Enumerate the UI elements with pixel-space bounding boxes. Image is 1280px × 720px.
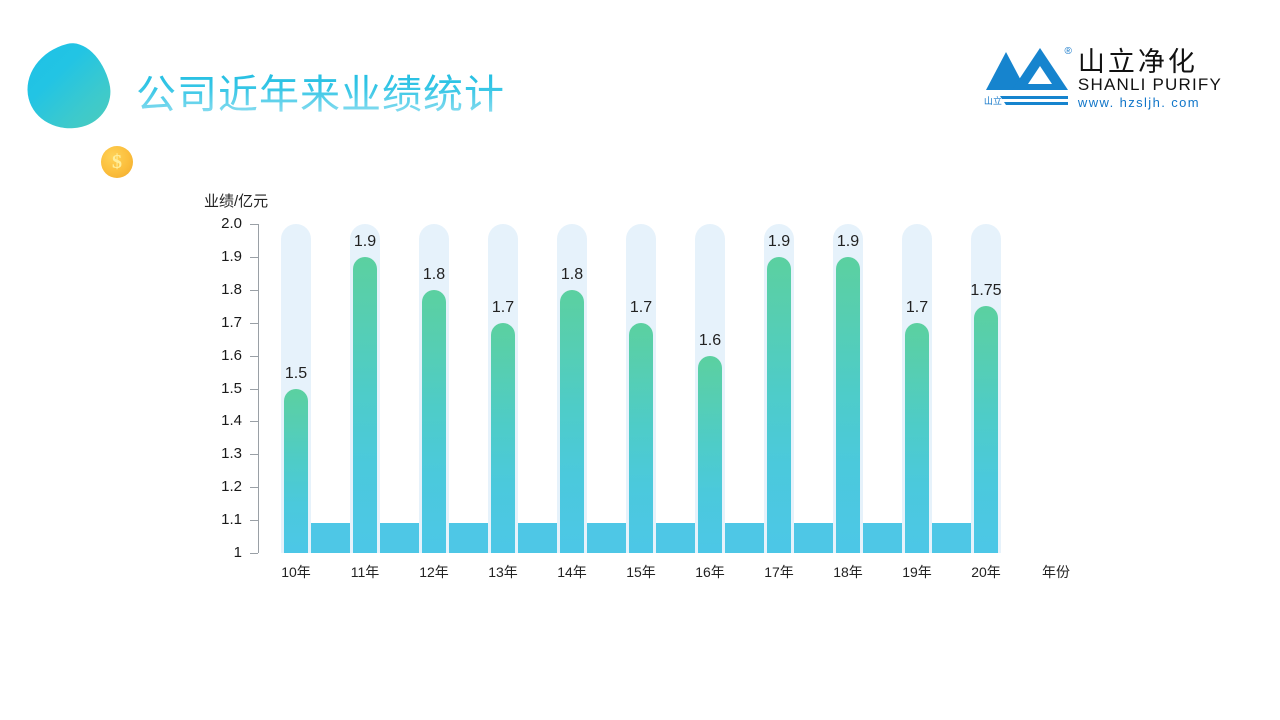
y-axis-tick-label-wrap: 1 [200, 553, 242, 554]
y-axis-tick-label: 1.6 [200, 347, 242, 364]
bar[interactable] [560, 290, 584, 553]
y-axis-tick-label: 1.9 [200, 248, 242, 265]
bar[interactable] [836, 257, 860, 553]
y-axis-tick [250, 290, 258, 291]
bar-value-label: 1.7 [474, 299, 532, 317]
bar-column[interactable]: 1.7520年 [971, 224, 1001, 553]
y-axis-tick [250, 553, 258, 554]
bar[interactable] [491, 323, 515, 553]
bar-column[interactable]: 1.713年 [488, 224, 518, 553]
x-axis-tick-label: 10年 [265, 562, 327, 582]
x-axis-tick-label: 18年 [817, 562, 879, 582]
x-axis-tick-label: 16年 [679, 562, 741, 582]
y-axis-line [258, 224, 259, 553]
bar[interactable] [974, 306, 998, 553]
x-axis-title: 年份 [1042, 562, 1070, 582]
x-axis-tick-label: 20年 [955, 562, 1017, 582]
bar-value-label: 1.9 [336, 233, 394, 251]
y-axis-tick [250, 389, 258, 390]
x-axis-tick-label: 15年 [610, 562, 672, 582]
x-axis-tick-label: 14年 [541, 562, 603, 582]
bar-value-label: 1.8 [405, 266, 463, 284]
y-axis-tick-label-wrap: 1.1 [200, 520, 242, 521]
x-axis-tick-label: 12年 [403, 562, 465, 582]
bar-value-label: 1.8 [543, 266, 601, 284]
y-axis-tick-label: 1.7 [200, 314, 242, 331]
bar-value-label: 1.7 [612, 299, 670, 317]
bar[interactable] [422, 290, 446, 553]
y-axis-tick [250, 224, 258, 225]
y-axis-tick-label: 1.4 [200, 412, 242, 429]
y-axis-tick [250, 257, 258, 258]
bar-column[interactable]: 1.911年 [350, 224, 380, 553]
bar-value-label: 1.5 [267, 365, 325, 383]
x-axis-tick-label: 13年 [472, 562, 534, 582]
bar-value-label: 1.9 [819, 233, 877, 251]
bar-value-label: 1.9 [750, 233, 808, 251]
y-axis-tick-label: 2.0 [200, 215, 242, 232]
y-axis-tick [250, 454, 258, 455]
y-axis-tick [250, 520, 258, 521]
bar[interactable] [698, 356, 722, 553]
y-axis-tick-label-wrap: 1.3 [200, 454, 242, 455]
performance-bar-chart: 业绩/亿元 年份 11.11.21.31.41.51.61.71.81.92.0… [0, 0, 1280, 720]
bar-value-label: 1.7 [888, 299, 946, 317]
bar-column[interactable]: 1.917年 [764, 224, 794, 553]
bar-value-label: 1.75 [957, 282, 1015, 300]
y-axis-tick-label: 1.1 [200, 511, 242, 528]
y-axis-tick-label-wrap: 2.0 [200, 224, 242, 225]
bar-value-label: 1.6 [681, 332, 739, 350]
x-axis-tick-label: 19年 [886, 562, 948, 582]
y-axis-title: 业绩/亿元 [204, 190, 268, 211]
y-axis-tick-label: 1.8 [200, 281, 242, 298]
bar[interactable] [905, 323, 929, 553]
y-axis-tick-label-wrap: 1.9 [200, 257, 242, 258]
y-axis-tick-label: 1.3 [200, 445, 242, 462]
bar[interactable] [767, 257, 791, 553]
bar-column[interactable]: 1.715年 [626, 224, 656, 553]
bar-column[interactable]: 1.918年 [833, 224, 863, 553]
x-axis-tick-label: 17年 [748, 562, 810, 582]
y-axis-tick-label-wrap: 1.6 [200, 356, 242, 357]
y-axis-tick [250, 487, 258, 488]
plot-area: 1.510年1.911年1.812年1.713年1.814年1.715年1.61… [281, 224, 1000, 553]
bar[interactable] [353, 257, 377, 553]
bar-column[interactable]: 1.812年 [419, 224, 449, 553]
y-axis-tick-label-wrap: 1.4 [200, 421, 242, 422]
y-axis-tick [250, 356, 258, 357]
x-axis-tick-label: 11年 [334, 562, 396, 582]
y-axis-tick [250, 323, 258, 324]
y-axis-tick-label-wrap: 1.7 [200, 323, 242, 324]
y-axis-tick-label-wrap: 1.2 [200, 487, 242, 488]
bar-column[interactable]: 1.510年 [281, 224, 311, 553]
bar-column[interactable]: 1.616年 [695, 224, 725, 553]
bar-column[interactable]: 1.719年 [902, 224, 932, 553]
y-axis-tick-label-wrap: 1.5 [200, 389, 242, 390]
bar[interactable] [629, 323, 653, 553]
y-axis-tick-label: 1.5 [200, 380, 242, 397]
bar-column[interactable]: 1.814年 [557, 224, 587, 553]
y-axis-tick-label: 1.2 [200, 478, 242, 495]
y-axis-tick [250, 421, 258, 422]
y-axis-tick-label: 1 [200, 544, 242, 561]
y-axis-tick-label-wrap: 1.8 [200, 290, 242, 291]
bar[interactable] [284, 389, 308, 554]
